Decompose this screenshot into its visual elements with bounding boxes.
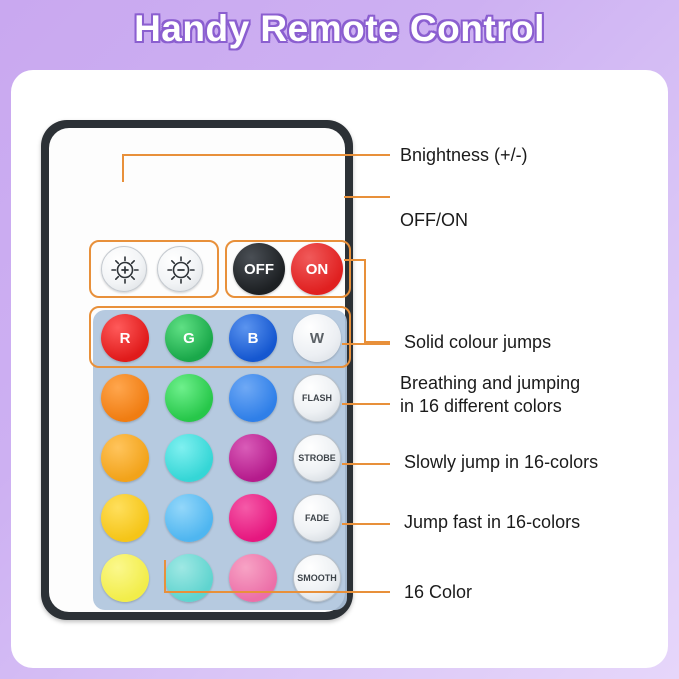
callout-brightness: Bnightness (+/-) xyxy=(400,144,528,167)
color-button-cyan[interactable] xyxy=(165,434,213,482)
callout-offon: OFF/ON xyxy=(400,209,468,232)
color-button-magenta[interactable] xyxy=(229,494,277,542)
color-button-light-green[interactable] xyxy=(165,374,213,422)
diagram-page: Handy Remote Control xyxy=(0,0,679,679)
highlight-power xyxy=(225,240,351,298)
remote-face: OFF ON R G B W xyxy=(49,128,345,612)
mode-button-flash-label: FLASH xyxy=(302,393,332,403)
mode-button-fade-label: FADE xyxy=(305,513,329,523)
color-button-aqua[interactable] xyxy=(165,554,213,602)
mode-button-smooth-label: SMOOTH xyxy=(297,573,337,583)
color-button-pink[interactable] xyxy=(229,554,277,602)
color-button-amber[interactable] xyxy=(101,434,149,482)
callout-smooth: Jump fast in 16-colors xyxy=(404,511,580,534)
color-button-azure[interactable] xyxy=(229,374,277,422)
mode-button-smooth[interactable]: SMOOTH xyxy=(293,554,341,602)
mode-button-flash[interactable]: FLASH xyxy=(293,374,341,422)
color-button-orange[interactable] xyxy=(101,374,149,422)
page-title: Handy Remote Control xyxy=(0,8,679,50)
highlight-brightness xyxy=(89,240,219,298)
callout-fade: Slowly jump in 16-colors xyxy=(404,451,598,474)
callout-solid-colour-jumps: Solid colour jumps xyxy=(404,331,551,354)
highlight-rgbw xyxy=(89,306,351,368)
white-panel: OFF ON R G B W xyxy=(11,70,668,668)
mode-button-strobe[interactable]: STROBE xyxy=(293,434,341,482)
callout-breathing: Breathing and jumping in 16 different co… xyxy=(400,372,580,417)
color-button-yellow[interactable] xyxy=(101,494,149,542)
mode-button-fade[interactable]: FADE xyxy=(293,494,341,542)
mode-button-strobe-label: STROBE xyxy=(298,453,336,463)
callout-16-color: 16 Color xyxy=(404,581,472,604)
remote-control-device: OFF ON R G B W xyxy=(41,120,353,620)
color-button-purple[interactable] xyxy=(229,434,277,482)
color-button-light-yellow[interactable] xyxy=(101,554,149,602)
color-button-sky[interactable] xyxy=(165,494,213,542)
